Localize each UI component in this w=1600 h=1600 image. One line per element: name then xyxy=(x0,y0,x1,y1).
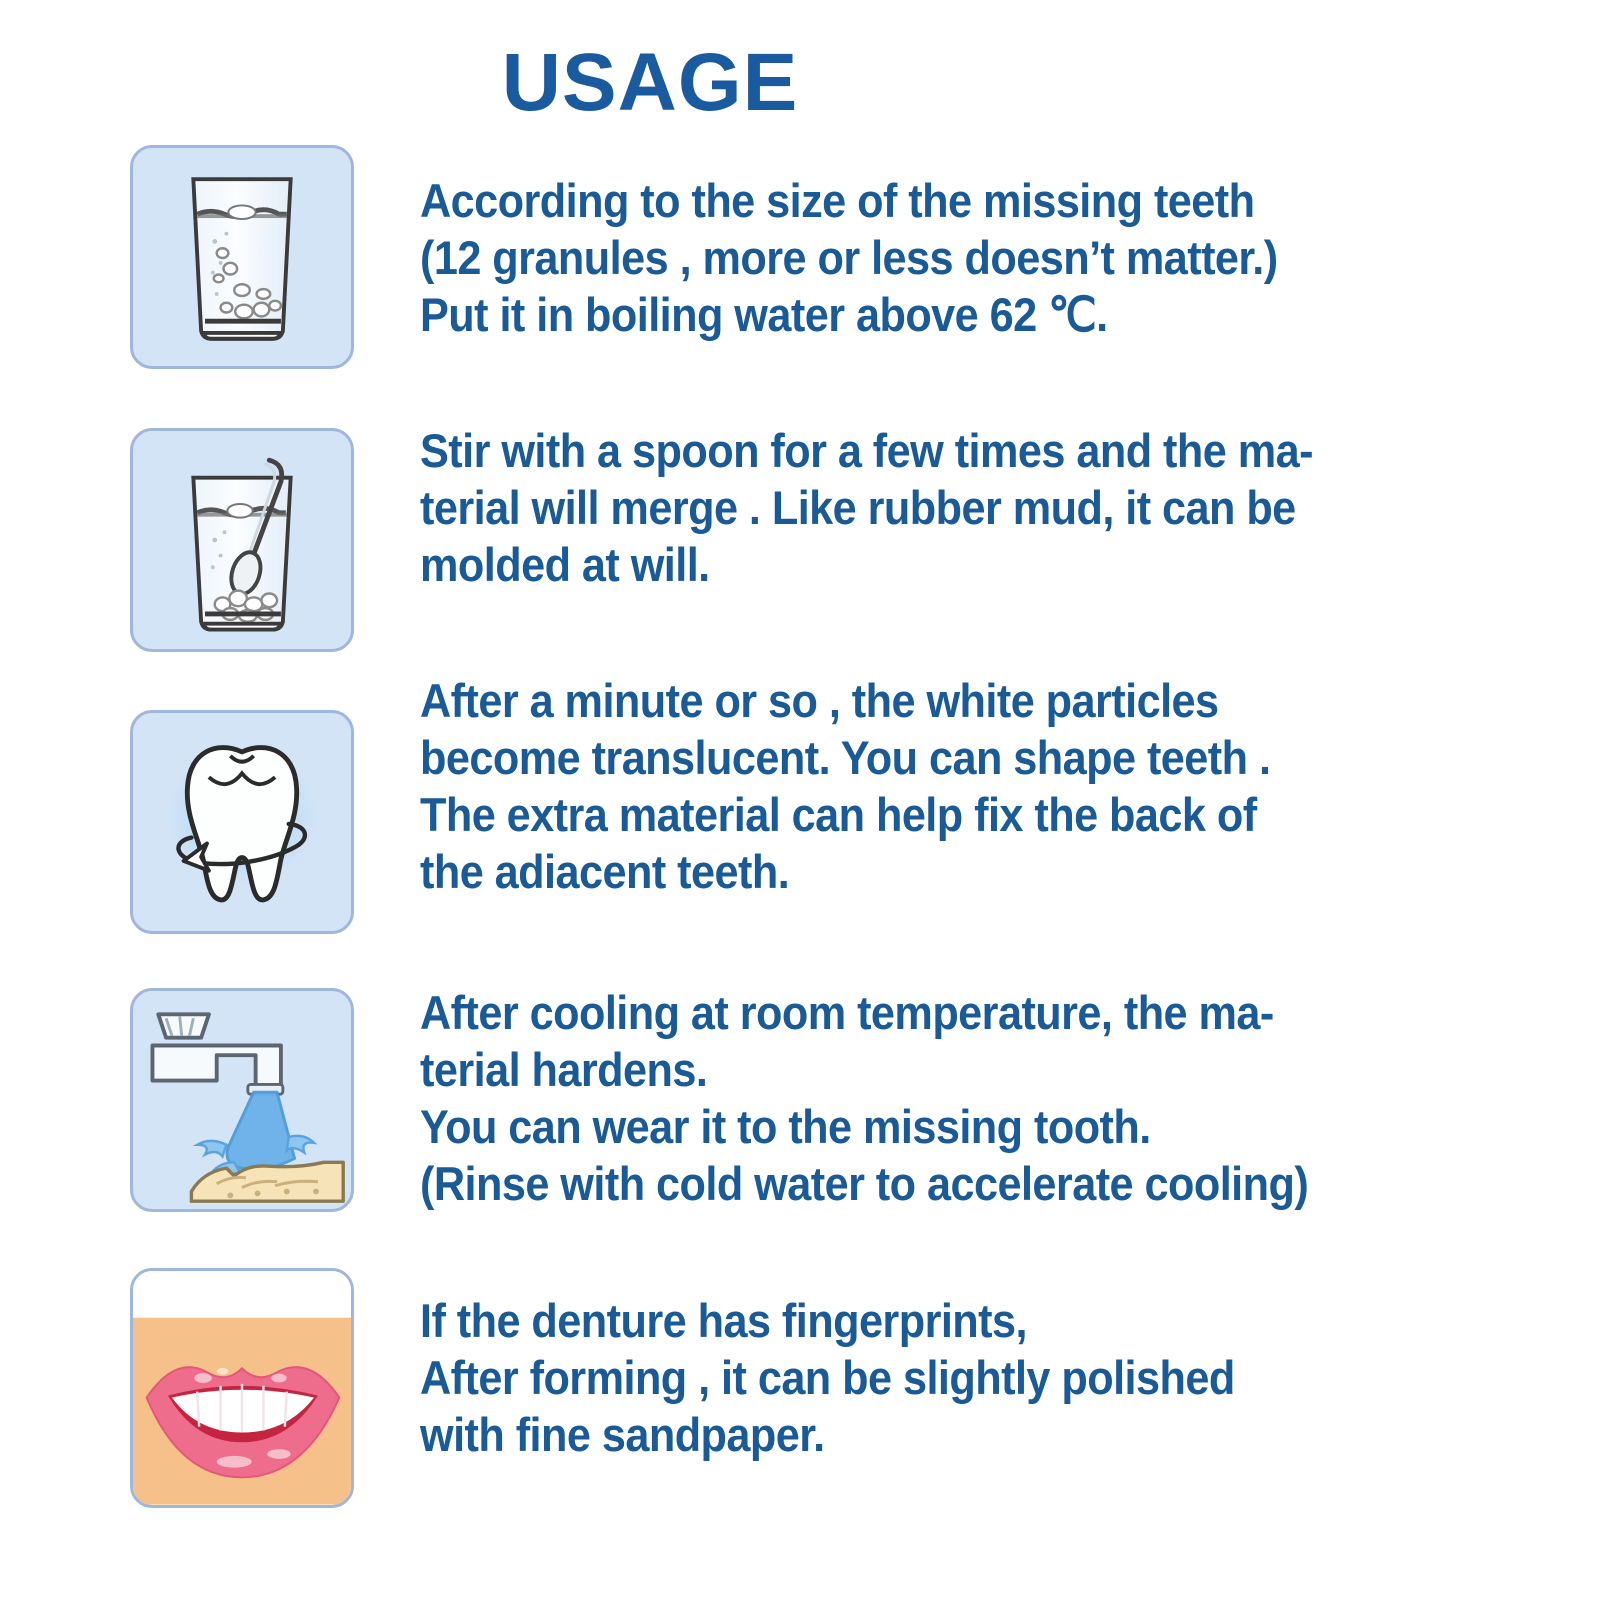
step-line: After forming , it can be slightly polis… xyxy=(420,1349,1235,1406)
usage-step-5-text: If the denture has fingerprints, After f… xyxy=(420,1292,1235,1463)
step-line: (12 granules , more or less doesn’t matt… xyxy=(420,229,1278,286)
glass-of-water-with-granules-icon xyxy=(130,145,354,369)
step-line: terial hardens. xyxy=(420,1041,1308,1098)
faucet-washing-hands-icon xyxy=(130,988,354,1212)
step-line: After a minute or so , the white particl… xyxy=(420,672,1270,729)
step-line: become translucent. You can shape teeth … xyxy=(420,729,1270,786)
smiling-mouth-with-teeth-icon xyxy=(130,1268,354,1508)
step-line: The extra material can help fix the back… xyxy=(420,786,1270,843)
step-line: You can wear it to the missing tooth. xyxy=(420,1098,1308,1155)
step-line: with fine sandpaper. xyxy=(420,1406,1235,1463)
usage-step-4-text: After cooling at room temperature, the m… xyxy=(420,984,1308,1212)
usage-step-3-text: After a minute or so , the white particl… xyxy=(420,672,1270,900)
step-line: According to the size of the missing tee… xyxy=(420,172,1278,229)
step-line: terial will merge . Like rubber mud, it … xyxy=(420,479,1313,536)
step-line: Put it in boiling water above 62 ℃. xyxy=(420,286,1278,343)
usage-step-2-text: Stir with a spoon for a few times and th… xyxy=(420,422,1313,593)
step-line: Stir with a spoon for a few times and th… xyxy=(420,422,1313,479)
step-line: (Rinse with cold water to accelerate coo… xyxy=(420,1155,1308,1212)
step-line: the adiacent teeth. xyxy=(420,843,1270,900)
usage-steps-list: According to the size of the missing tee… xyxy=(0,0,1600,1600)
tooth-with-arrow-icon xyxy=(130,710,354,934)
usage-step-1-text: According to the size of the missing tee… xyxy=(420,172,1278,343)
step-line: If the denture has fingerprints, xyxy=(420,1292,1235,1349)
step-line: After cooling at room temperature, the m… xyxy=(420,984,1308,1041)
glass-with-spoon-stirring-icon xyxy=(130,428,354,652)
step-line: molded at will. xyxy=(420,536,1313,593)
